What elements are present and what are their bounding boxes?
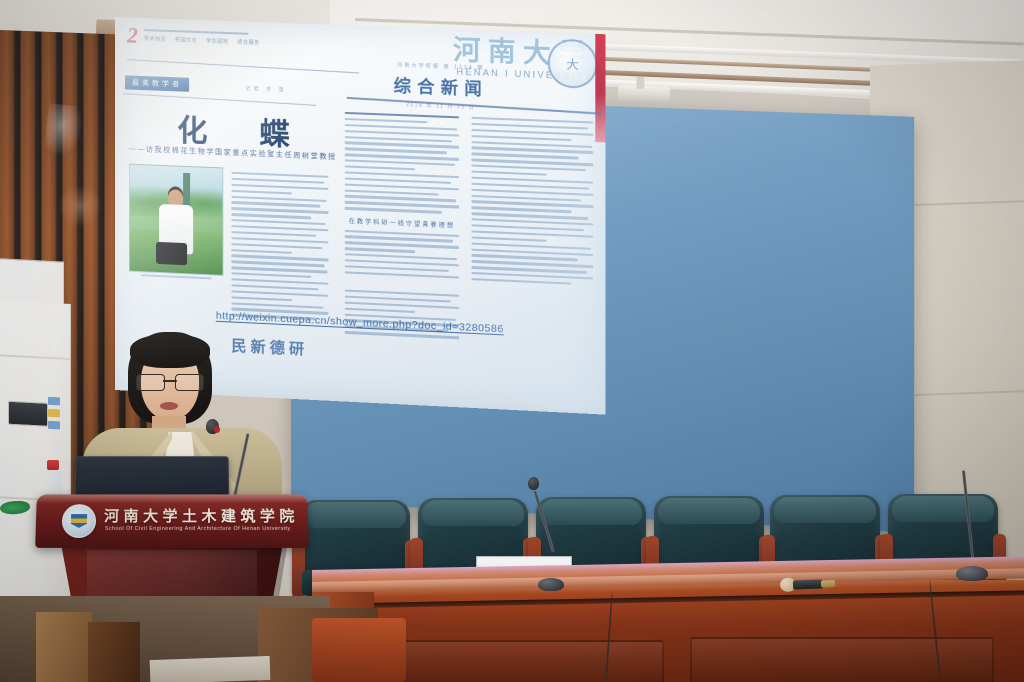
- column-subheading: 在教学科研一线守望青春理想: [345, 215, 459, 229]
- newspaper-page-number: 2: [127, 25, 138, 45]
- podium-sign-text-cn: 河南大学土木建筑学院: [104, 505, 299, 526]
- mic-body: [793, 579, 823, 589]
- lecture-hall-photo: 2 学术前沿 校园文化 学生园地 综合服务 河南大学 HENAN I UNIVE…: [0, 0, 1024, 682]
- newspaper-section-header: 河南大学校报 第 1234 期 综合新闻 2016 年 11 月 25 日: [349, 60, 533, 114]
- article-photo: [129, 164, 223, 276]
- podium-sign-text-en: School Of Civil Engineering And Architec…: [105, 526, 291, 532]
- projector-mount-icon: [618, 85, 671, 105]
- gooseneck-mic-base[interactable]: [538, 578, 564, 591]
- handheld-microphone[interactable]: [780, 577, 836, 591]
- foreground-chair: [312, 618, 406, 682]
- article-byline: 记者 李 雪: [245, 85, 286, 94]
- section-title: 综合新闻: [349, 70, 533, 102]
- masthead-word: 校园文化: [175, 36, 197, 44]
- wall-scuff-mark: [43, 103, 84, 158]
- article-tag-badge: 最美教学者: [125, 75, 189, 91]
- ac-label-tab: [48, 409, 60, 418]
- hair-fringe: [130, 334, 210, 368]
- gooseneck-mic-base[interactable]: [956, 566, 988, 581]
- mouth: [160, 402, 178, 410]
- article-text-column: 在教学科研一线守望青春理想: [345, 112, 459, 282]
- newspaper-masthead-lines: 学术前沿 校园文化 学生园地 综合服务: [144, 26, 260, 50]
- henan-university-crest-icon: [62, 504, 97, 538]
- green-sticker-icon: [0, 500, 31, 515]
- ac-display-panel[interactable]: [8, 401, 48, 427]
- wooden-stool-shadow: [88, 622, 140, 682]
- wooden-stool: [36, 612, 92, 682]
- masthead-word: 学生园地: [206, 37, 228, 45]
- bottle-cap: [47, 460, 59, 470]
- masthead-word: 学术前沿: [144, 35, 166, 43]
- podium-front-sign: 河南大学土木建筑学院 School Of Civil Engineering A…: [35, 494, 309, 547]
- gooseneck-mic-head-icon: [528, 477, 539, 490]
- podium-mic-head-icon: [206, 419, 219, 434]
- masthead-red-band: [595, 32, 605, 143]
- article-text-column: [471, 117, 593, 290]
- masthead-word: 综合服务: [237, 38, 259, 46]
- eyeglasses-icon: [136, 374, 204, 389]
- article-photo-caption: [141, 274, 211, 279]
- mic-tip: [821, 580, 835, 587]
- table-front-panel: [690, 637, 994, 682]
- ac-label-tab: [48, 421, 60, 430]
- ac-label-tab: [48, 397, 60, 406]
- wall-stain-mark: [58, 185, 102, 227]
- ac-seam: [0, 354, 70, 360]
- foreground-papers: [150, 656, 271, 682]
- university-seal-icon: 大: [548, 38, 598, 89]
- article-text-column: [231, 172, 328, 325]
